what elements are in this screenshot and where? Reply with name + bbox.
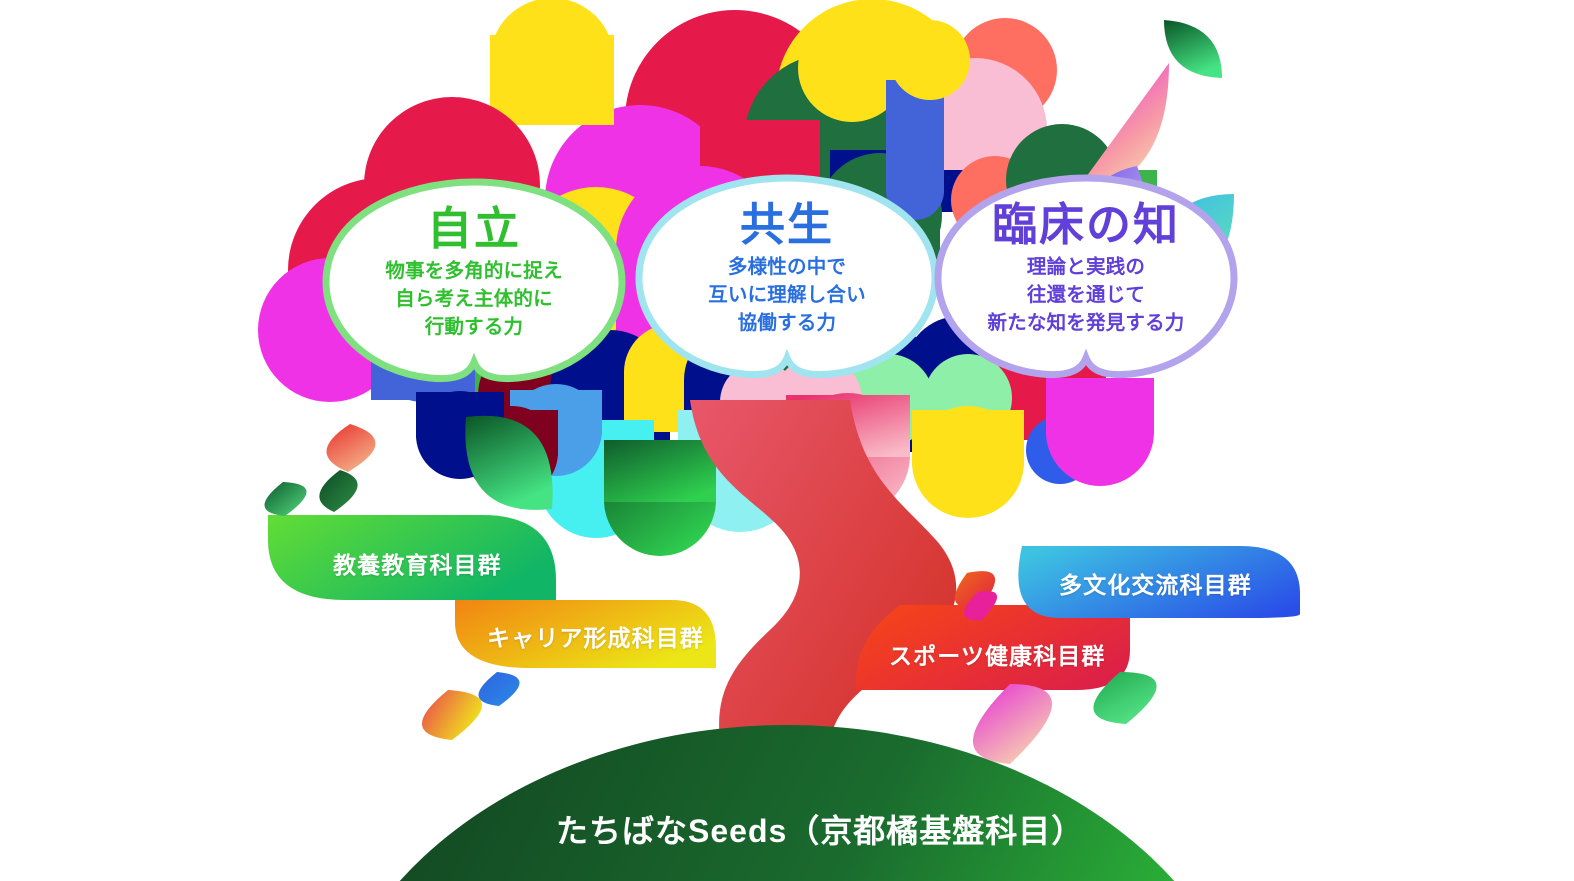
ground-mound — [317, 725, 1257, 881]
tree-illustration — [0, 0, 1574, 881]
diagram-canvas: 自立 物事を多角的に捉え 自ら考え主体的に 行動する力 共生 多様性の中で 互い… — [0, 0, 1574, 881]
banner-shape-tabunka — [1018, 546, 1300, 618]
banner-shape-kyoyo — [268, 515, 556, 600]
banner-shape-career — [455, 600, 716, 668]
